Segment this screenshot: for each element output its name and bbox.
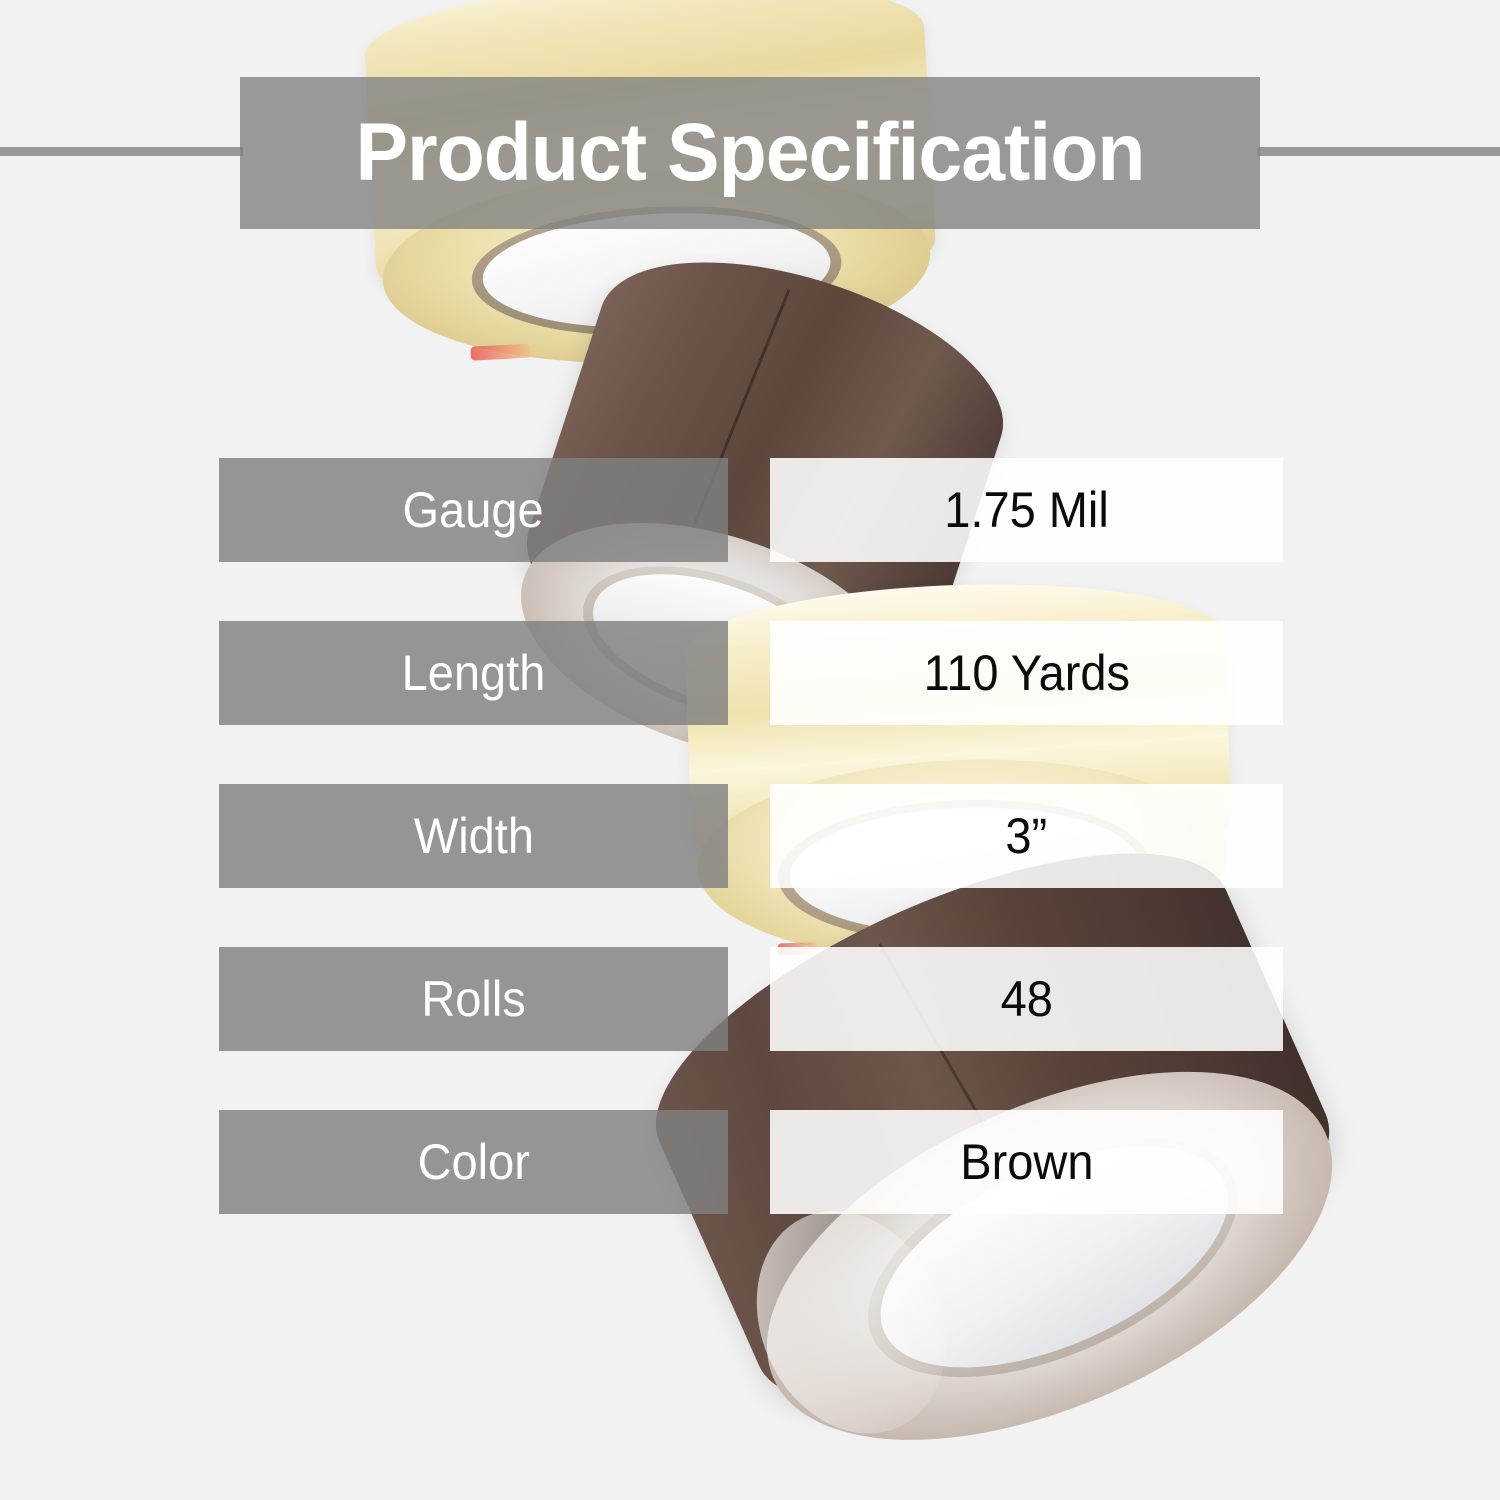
spec-value-width: 3” [770,784,1283,888]
table-row: Length 110 Yards [0,621,1500,725]
spec-value-color: Brown [770,1110,1283,1214]
spec-value-text: 48 [1000,974,1052,1024]
spec-value-gauge: 1.75 Mil [770,458,1283,562]
spec-value-text: 110 Yards [923,648,1129,698]
spec-value-text: 3” [1006,811,1048,861]
table-row: Gauge 1.75 Mil [0,458,1500,562]
table-row: Width 3” [0,784,1500,888]
spec-label-gauge: Gauge [219,458,728,562]
spec-label-text: Length [402,648,546,698]
spec-label-length: Length [219,621,728,725]
spec-label-width: Width [219,784,728,888]
spec-label-text: Gauge [403,485,544,535]
spec-label-color: Color [219,1110,728,1214]
spec-label-text: Color [417,1137,529,1187]
table-row: Color Brown [0,1110,1500,1214]
specification-table: Gauge 1.75 Mil Length 110 Yards Width 3” [0,0,1500,1500]
spec-label-rolls: Rolls [219,947,728,1051]
spec-value-rolls: 48 [770,947,1283,1051]
product-spec-card: Product Specification Gauge 1.75 Mil Len… [0,0,1500,1500]
spec-value-text: Brown [960,1137,1093,1187]
table-row: Rolls 48 [0,947,1500,1051]
spec-label-text: Rolls [421,974,525,1024]
spec-label-text: Width [413,811,533,861]
spec-value-length: 110 Yards [770,621,1283,725]
spec-value-text: 1.75 Mil [944,485,1109,535]
